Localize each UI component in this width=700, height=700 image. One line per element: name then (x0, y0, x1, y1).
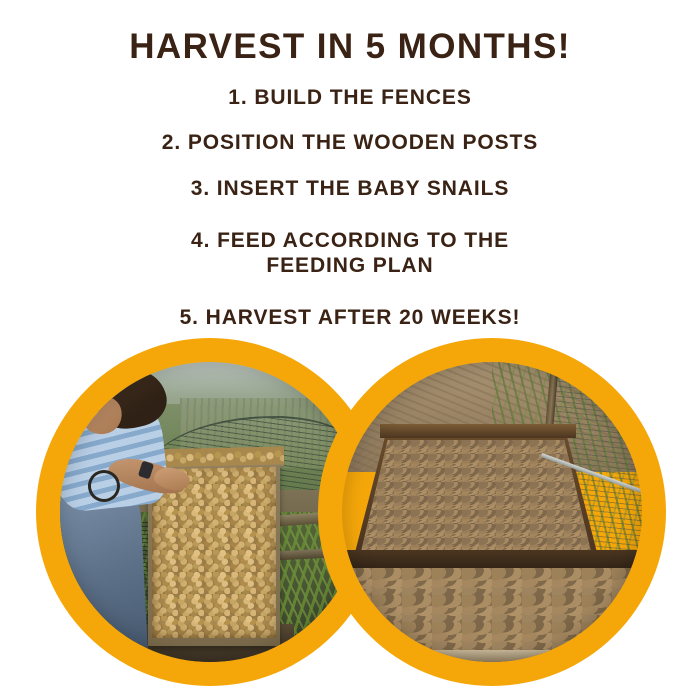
photo-ring-right (318, 338, 666, 686)
step-item-1: 1. BUILD THE FENCES (0, 85, 700, 110)
snail-cluster-lower (342, 568, 642, 654)
person-jeans (60, 490, 148, 662)
tray-rim (380, 424, 576, 438)
step-item-4: 4. FEED ACCORDING TO THE FEEDING PLAN (0, 228, 700, 278)
instructions-block: HARVEST IN 5 MONTHS! 1. BUILD THE FENCES… (0, 0, 700, 340)
photo-gallery (0, 336, 700, 696)
snail-cluster-tray (360, 440, 592, 556)
poster-canvas: HARVEST IN 5 MONTHS! 1. BUILD THE FENCES… (0, 0, 700, 700)
photo-snail-board (60, 362, 360, 662)
bottom-plank (342, 650, 642, 662)
snail-cluster-top (146, 447, 284, 468)
page-title: HARVEST IN 5 MONTHS! (0, 26, 700, 68)
step-item-3: 3. INSERT THE BABY SNAILS (0, 176, 700, 201)
step-item-2: 2. POSITION THE WOODEN POSTS (0, 130, 700, 155)
photo-snail-trays (342, 362, 642, 662)
step-item-5: 5. HARVEST AFTER 20 WEEKS! (0, 305, 700, 330)
